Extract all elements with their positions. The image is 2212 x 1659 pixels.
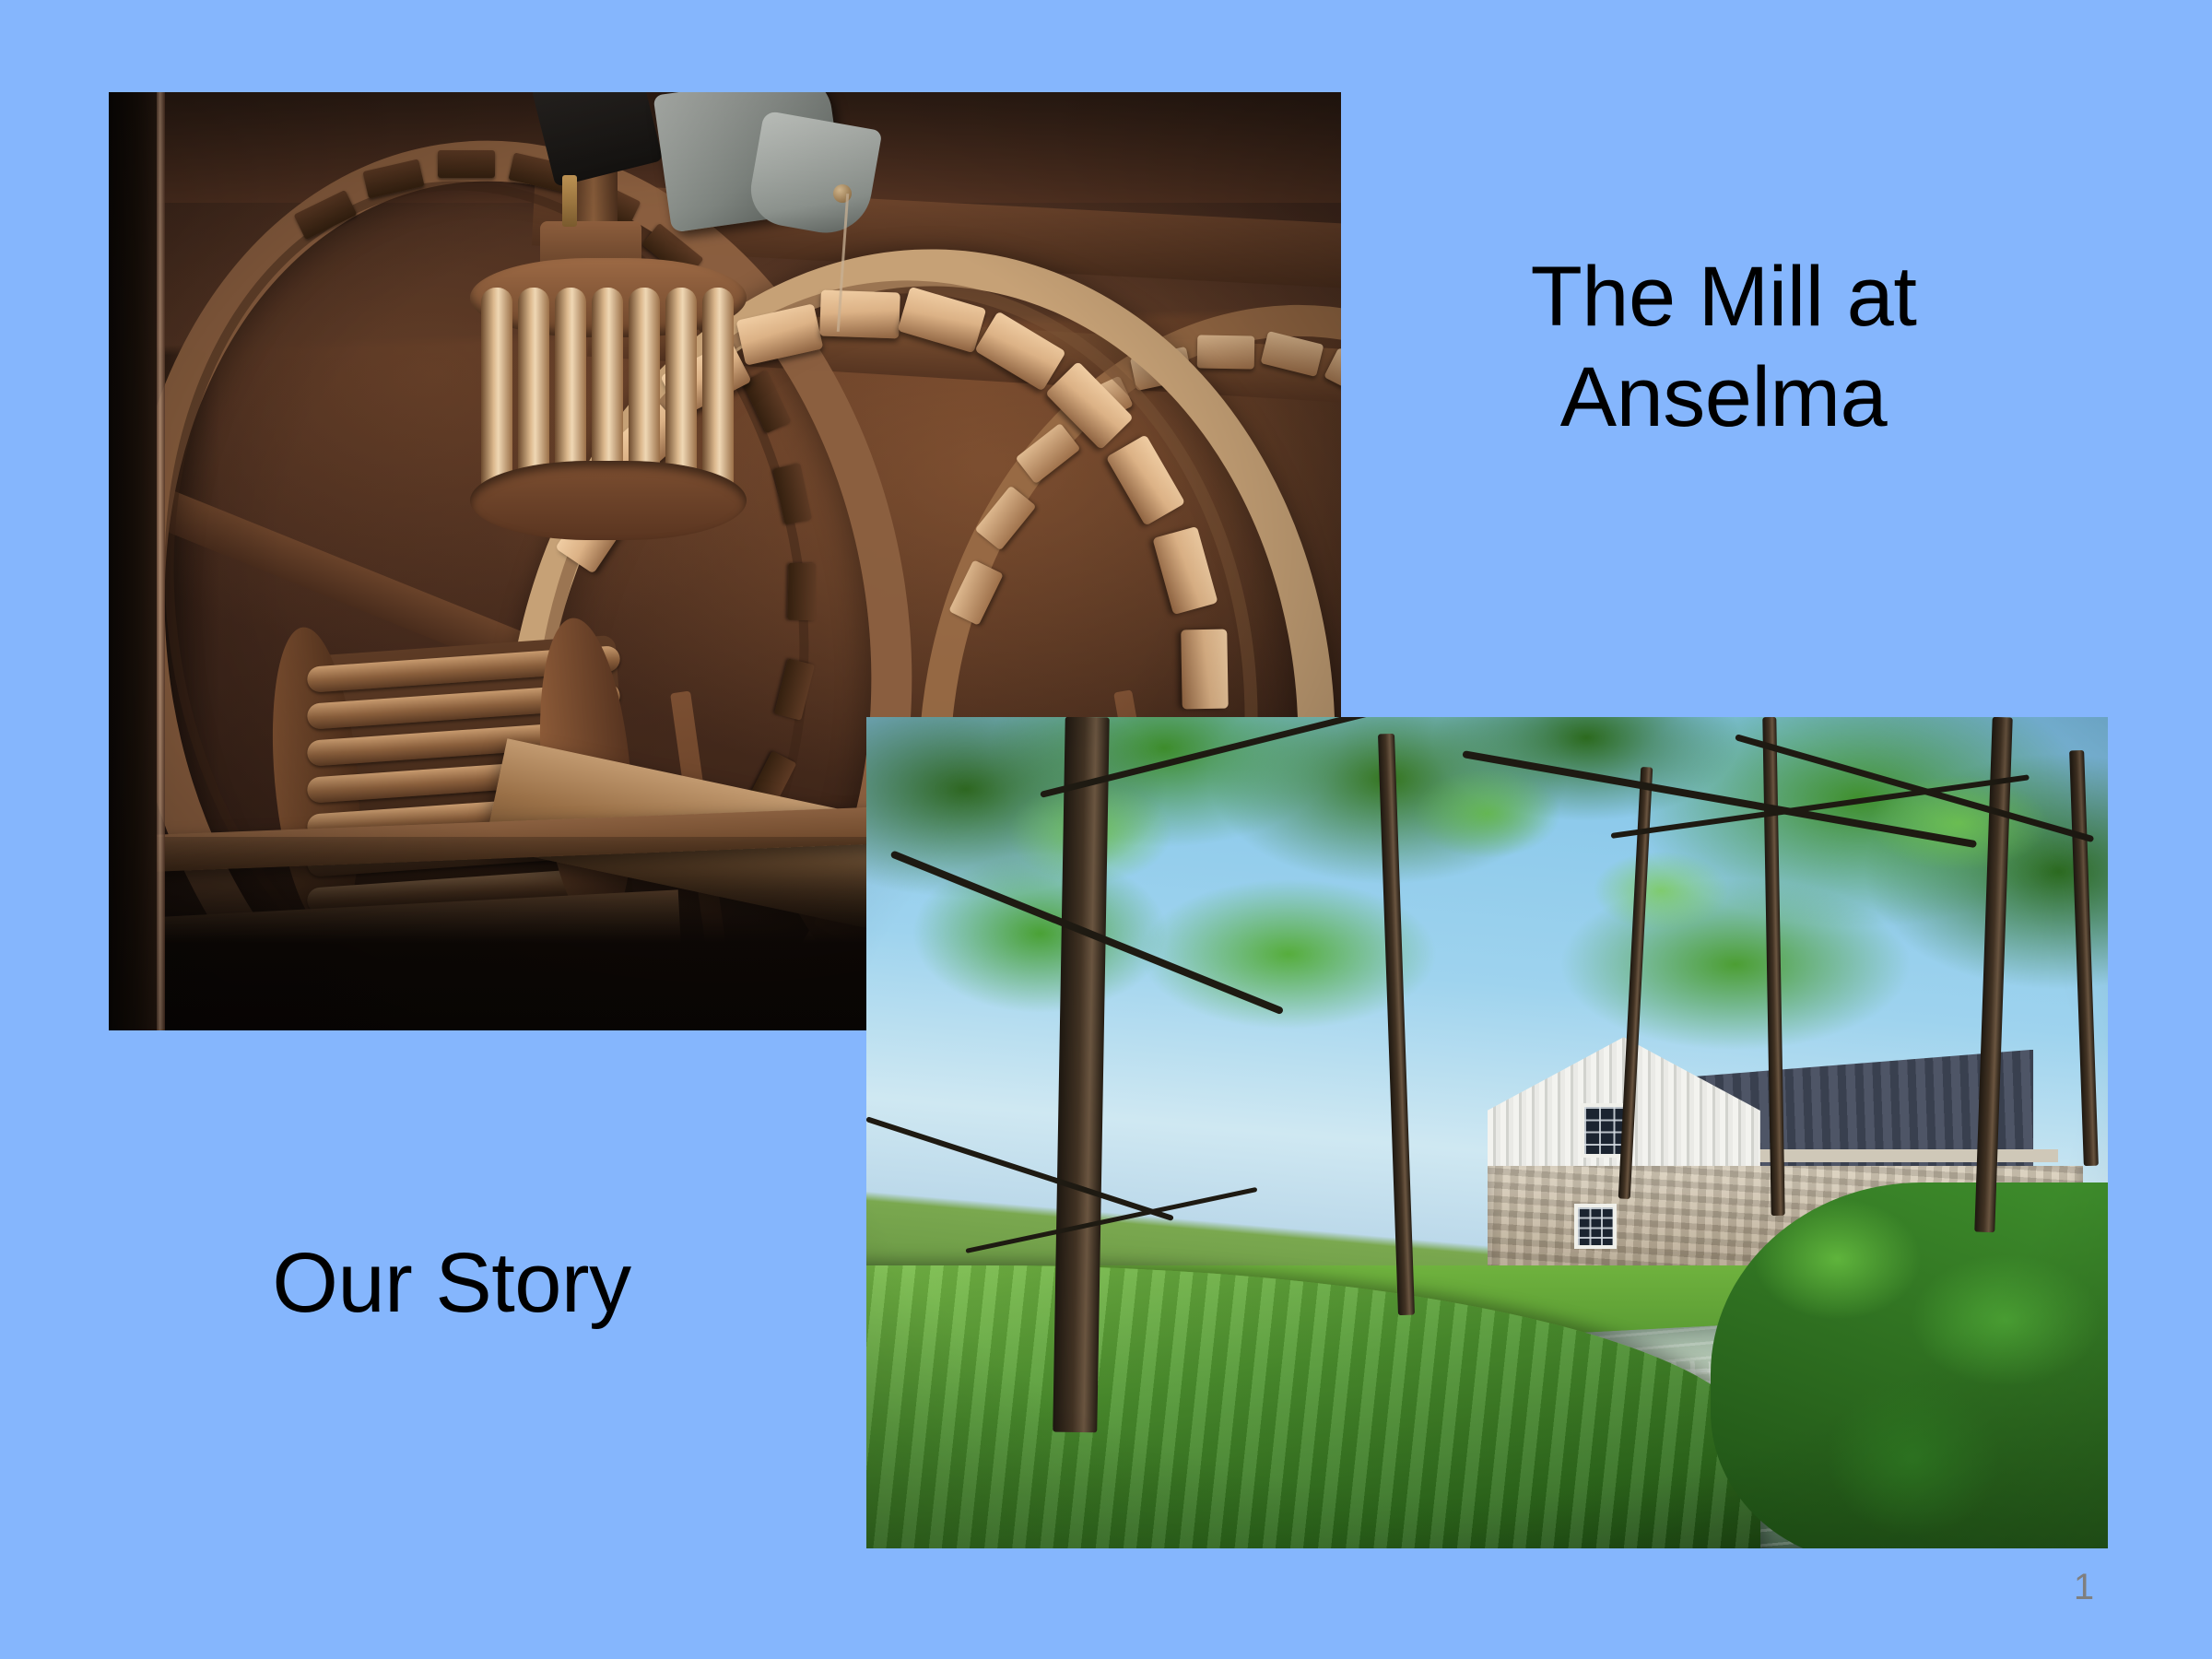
slide-number: 1 <box>2056 1569 2112 1606</box>
slide-subtitle: Our Story <box>152 1233 751 1334</box>
page-title: The Mill at Anselma <box>1382 247 2065 447</box>
photo-mill-exterior[interactable] <box>866 717 2108 1548</box>
exterior-photo-vignette <box>866 717 2108 1548</box>
presentation-slide: The Mill at Anselma Our Story 1 <box>0 0 2212 1659</box>
